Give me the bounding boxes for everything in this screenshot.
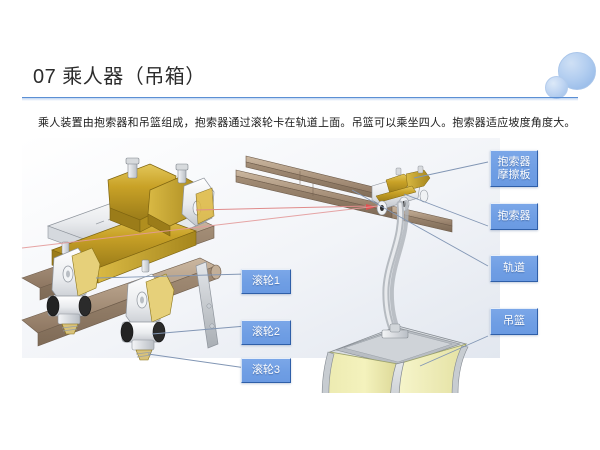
callout-roller-3[interactable]: 滚轮3 [241,358,291,383]
callout-label: 吊篮 [503,315,525,328]
title-divider-shadow [22,98,578,101]
callout-gripper-friction-plate[interactable]: 抱索器 摩擦板 [490,150,538,187]
callout-label-line1: 抱索器 [498,156,531,169]
slide-description: 乘人装置由抱索器和吊篮组成，抱索器通过滚轮卡在轨道上面。吊篮可以乘坐四人。抱索器… [38,114,576,130]
callout-gripper[interactable]: 抱索器 [490,203,538,230]
callout-track[interactable]: 轨道 [490,255,538,282]
slide-canvas: 07 乘人器（吊箱） 乘人装置由抱索器和吊篮组成，抱索器通过滚轮卡在轨道上面。吊… [0,0,600,450]
callout-cabin[interactable]: 吊篮 [490,308,538,335]
callout-label: 轨道 [503,262,525,275]
callout-label: 滚轮2 [252,326,280,339]
roller-wheel [47,296,59,316]
callout-label: 滚轮3 [252,364,280,377]
callout-roller-1[interactable]: 滚轮1 [241,269,291,294]
roller-wheel [79,296,91,316]
roller-wheel [153,322,165,342]
callout-label-line2: 摩擦板 [498,169,531,182]
decorative-circle-small-icon [545,76,568,99]
callout-label: 滚轮1 [252,275,280,288]
callout-label: 抱索器 [498,210,531,223]
callout-roller-2[interactable]: 滚轮2 [241,320,291,345]
roller-wheel [121,322,133,342]
page-title: 07 乘人器（吊箱） [33,60,206,89]
